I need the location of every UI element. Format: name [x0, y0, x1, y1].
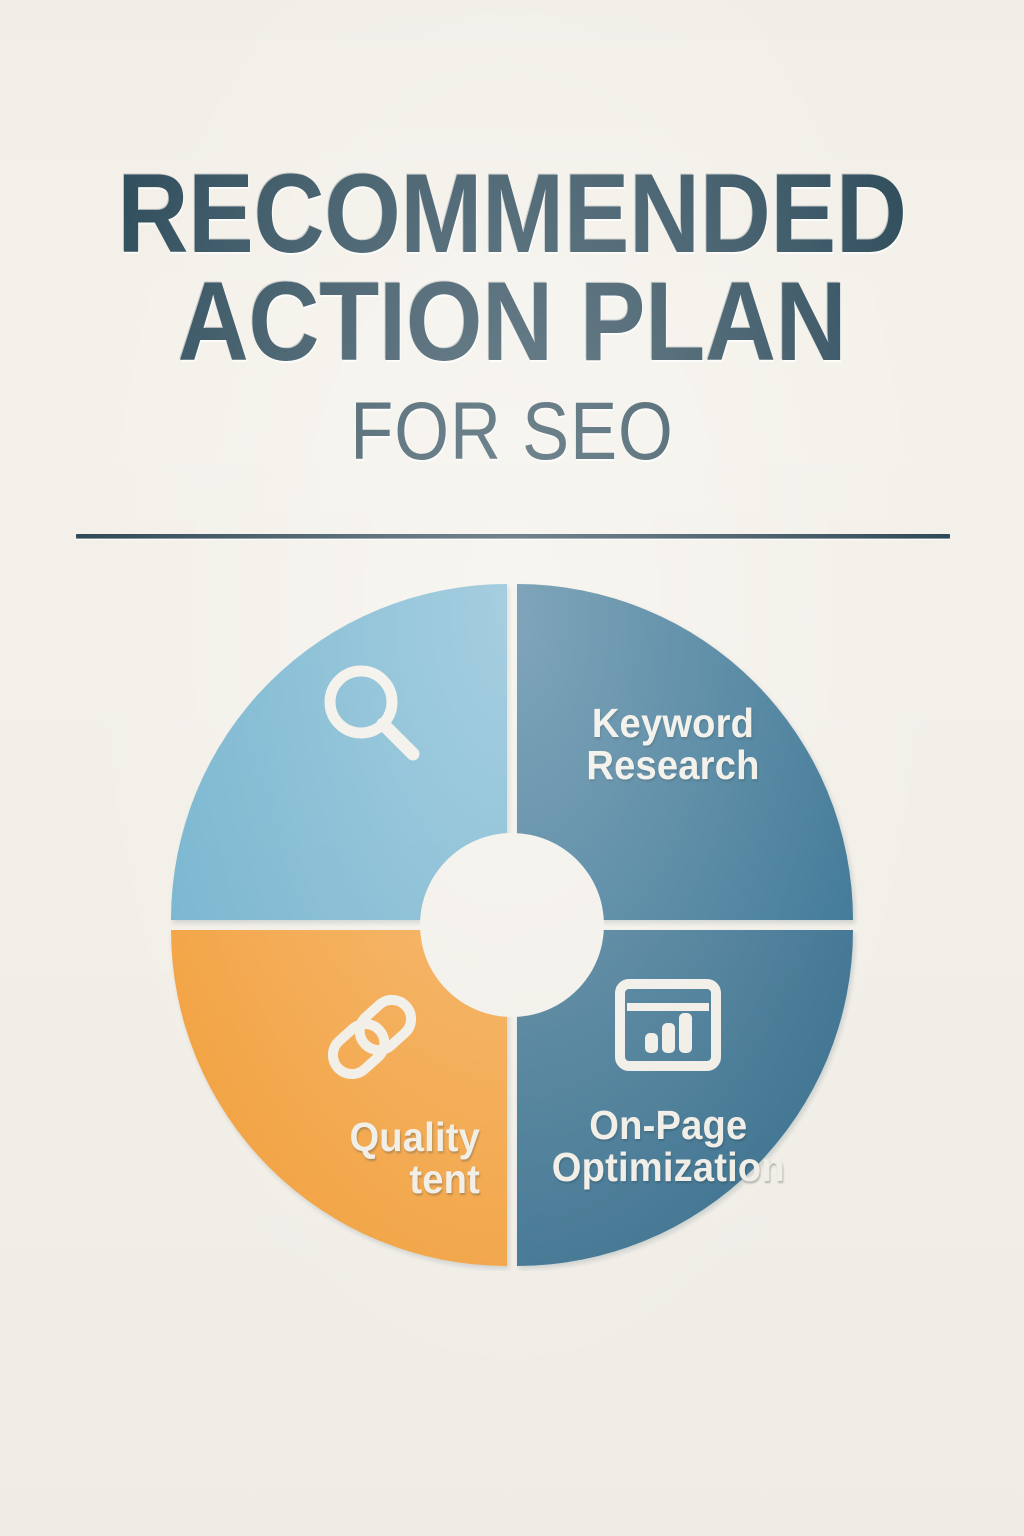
- header: RECOMMENDED ACTION PLAN FOR SEO: [0, 0, 1024, 473]
- page-subtitle: FOR SEO: [72, 391, 953, 473]
- segment-bottom-right-content: On-Page Optimization: [512, 979, 824, 1249]
- title-line-1: RECOMMENDED: [61, 160, 962, 268]
- page-title: RECOMMENDED ACTION PLAN FOR SEO: [0, 0, 1024, 473]
- segment-top-right-label: Keyword Research: [542, 703, 804, 787]
- browser-bar-chart-icon: [615, 979, 721, 1071]
- header-divider: [76, 534, 950, 539]
- segment-bottom-left-content: Quality tent: [258, 987, 490, 1247]
- segment-top-left-content: [284, 657, 464, 837]
- segment-top-right-content: Keyword Research: [532, 703, 814, 833]
- magnifier-icon: [284, 657, 464, 773]
- segment-bottom-right-label: On-Page Optimization: [551, 1105, 784, 1189]
- title-line-2: ACTION PLAN: [61, 268, 962, 376]
- segment-bottom-left-label: Quality tent: [264, 1117, 483, 1201]
- seo-donut-chart: Keyword Research On-Page Optimization: [166, 579, 858, 1271]
- chain-link-icon: [320, 987, 424, 1087]
